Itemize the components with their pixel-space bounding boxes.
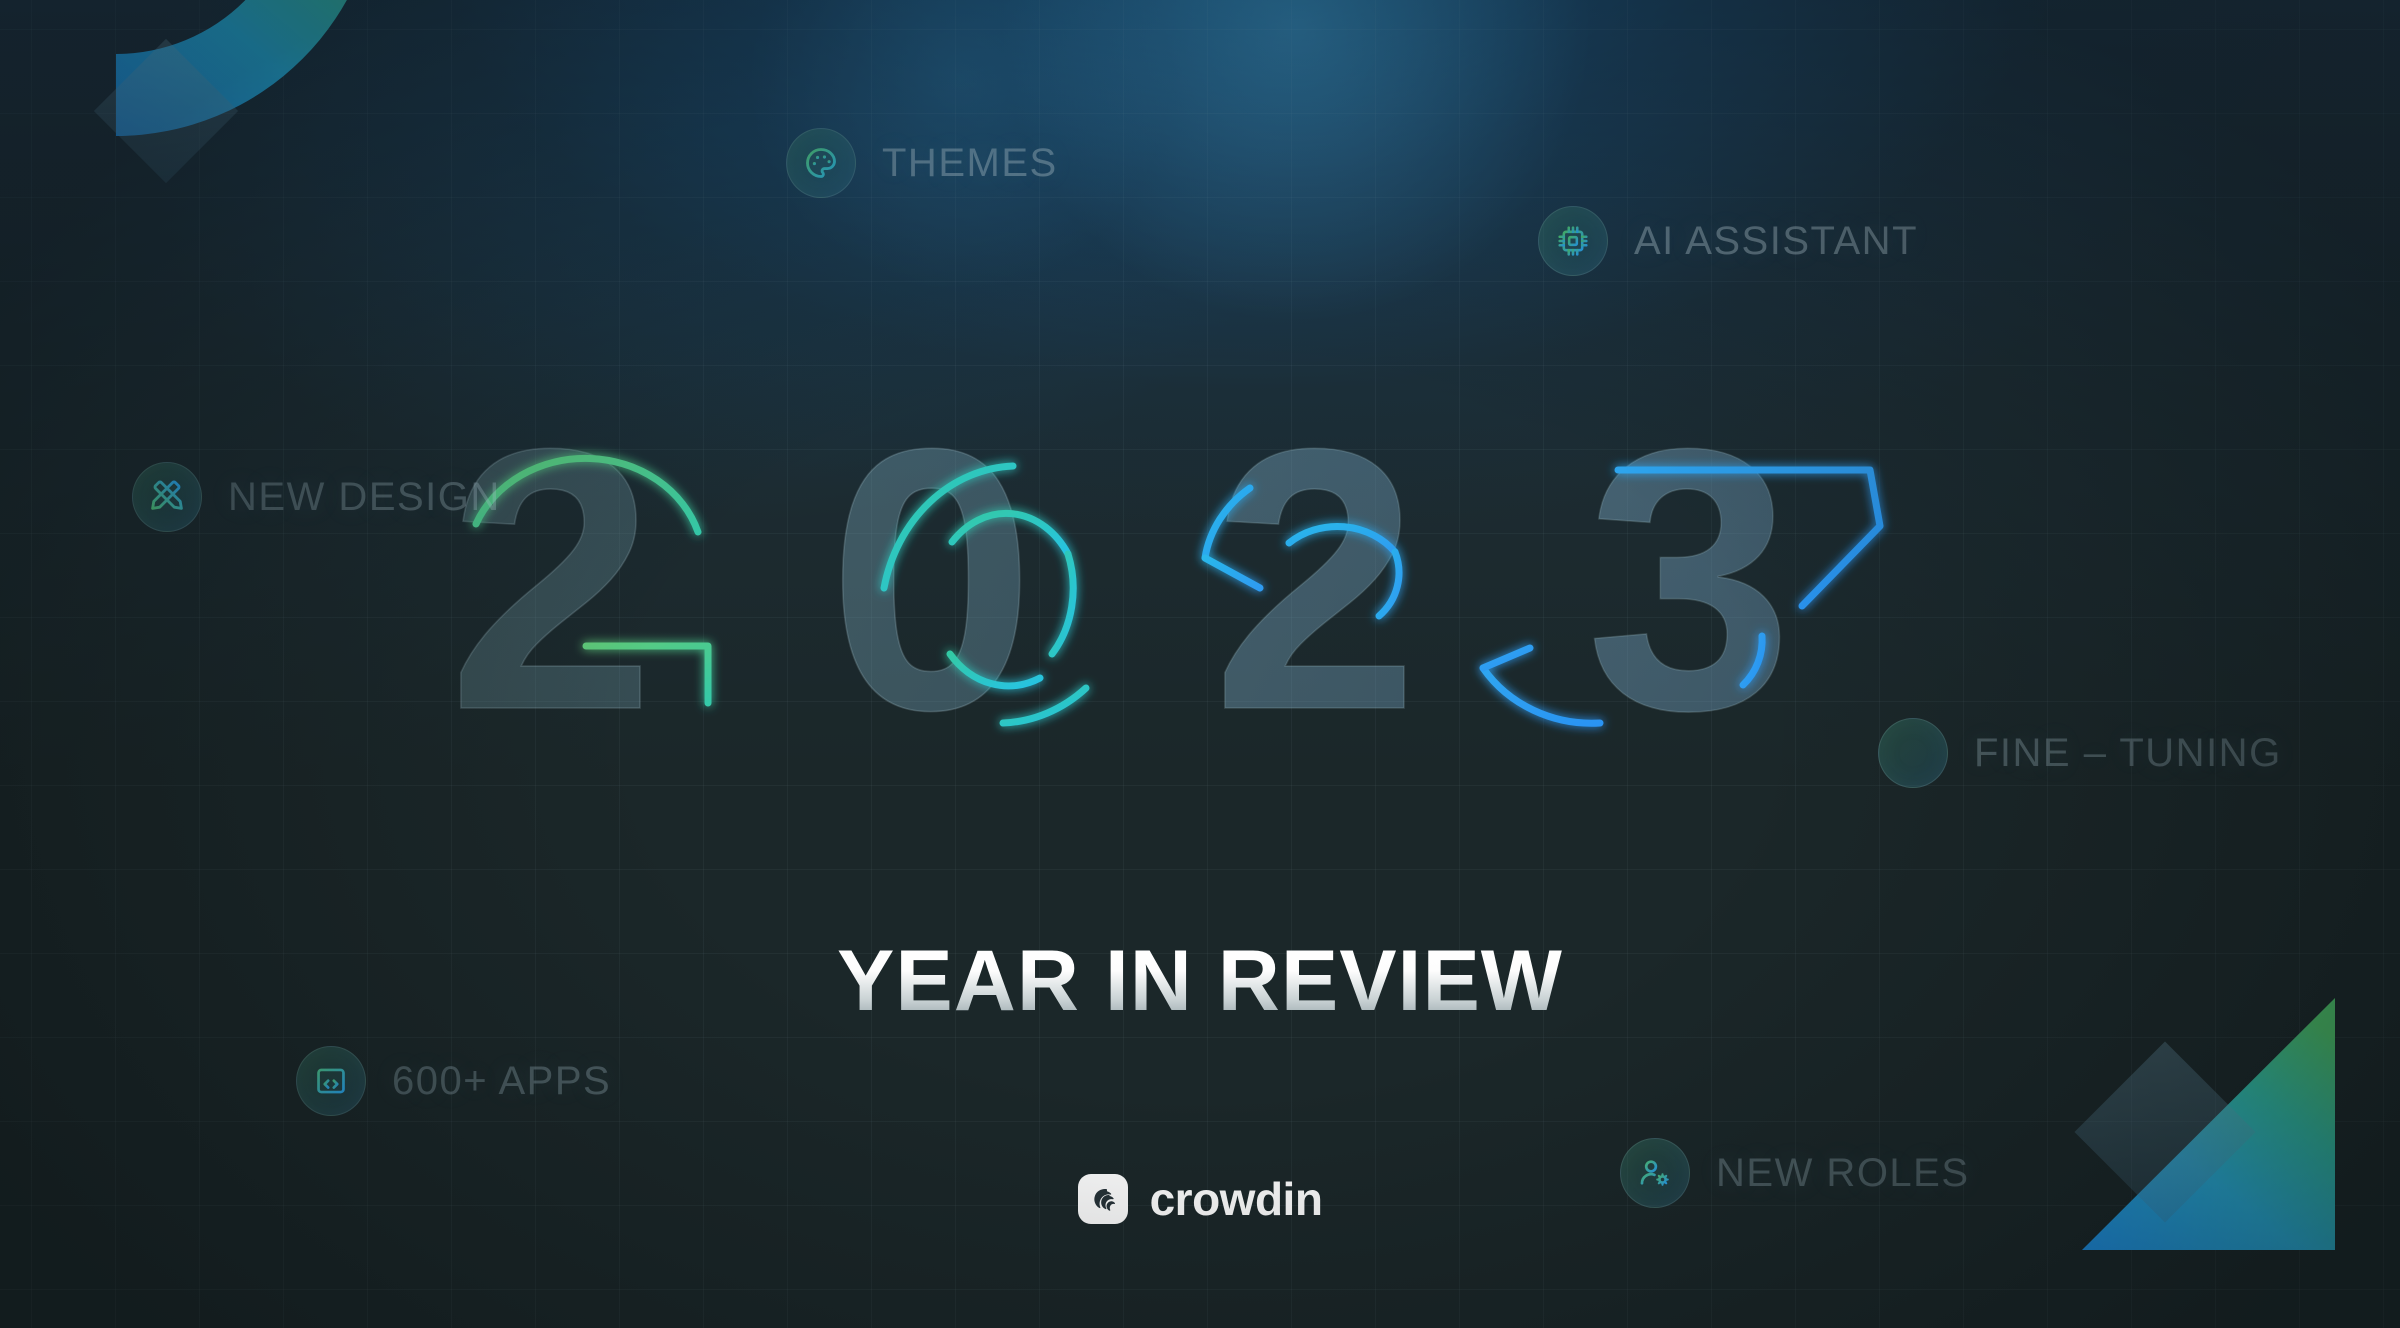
feature-new-design: NEW DESIGN (132, 462, 501, 532)
page-subtitle: YEAR IN REVIEW (0, 938, 2400, 1024)
svg-text:0: 0 (828, 440, 1029, 770)
palette-icon (786, 128, 856, 198)
feature-ai-assistant: AI ASSISTANT (1538, 206, 1918, 276)
feature-label: THEMES (882, 141, 1058, 186)
sliders-icon (1878, 718, 1948, 788)
feature-label: AI ASSISTANT (1634, 219, 1918, 264)
feature-label: FINE – TUNING (1974, 731, 2282, 776)
year-in-review-banner: 2 0 2 3 2 0 2 3 (0, 0, 2400, 1328)
feature-apps: 600+ APPS (296, 1046, 611, 1116)
brand-name: crowdin (1150, 1172, 1323, 1226)
feature-fine-tuning: FINE – TUNING (1878, 718, 2282, 788)
crowdin-logo-icon (1078, 1174, 1128, 1224)
code-window-icon (296, 1046, 366, 1116)
feature-label: 600+ APPS (392, 1059, 611, 1104)
pen-ruler-icon (132, 462, 202, 532)
feature-label: NEW DESIGN (228, 475, 501, 520)
feature-themes: THEMES (786, 128, 1058, 198)
brand-logo: crowdin (0, 1172, 2400, 1226)
svg-text:2: 2 (1212, 440, 1413, 770)
svg-text:3: 3 (1586, 440, 1787, 770)
year-2023-graphic: 2 0 2 3 2 0 2 3 (440, 440, 1960, 770)
cpu-chip-icon (1538, 206, 1608, 276)
